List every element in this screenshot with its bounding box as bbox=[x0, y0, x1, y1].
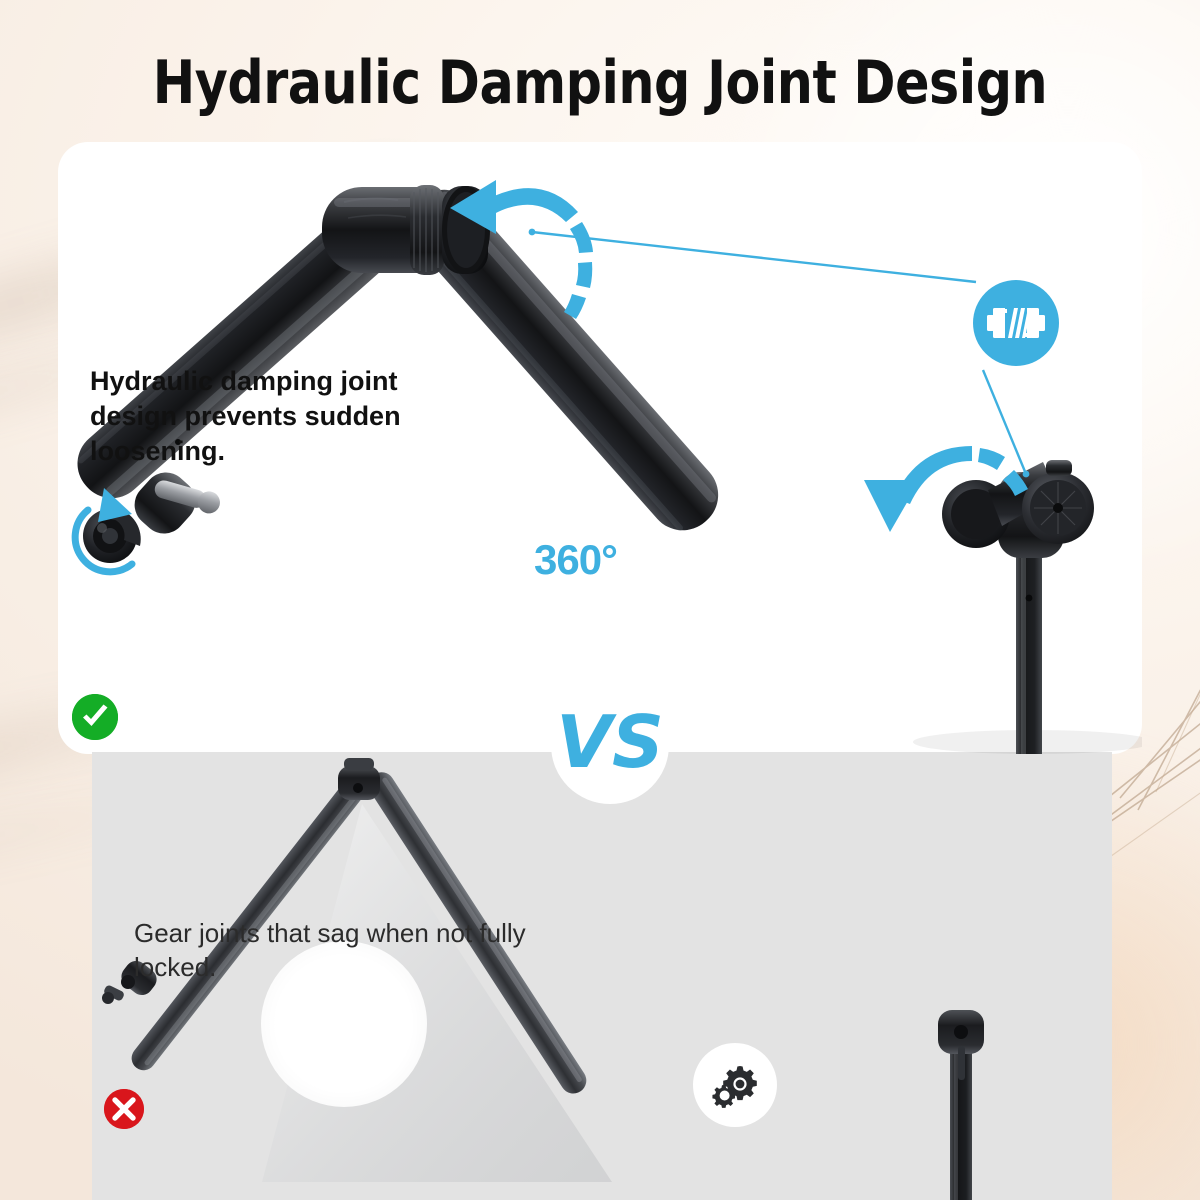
gears-badge bbox=[693, 1043, 777, 1127]
bad-panel-caption: Gear joints that sag when not fully lock… bbox=[134, 916, 534, 985]
x-circle-icon bbox=[104, 1089, 144, 1129]
shock-absorber-icon bbox=[987, 303, 1045, 343]
vs-divider-label: VS bbox=[551, 686, 669, 804]
check-circle-icon bbox=[72, 694, 118, 740]
gears-icon bbox=[710, 1060, 760, 1110]
good-panel-caption: Hydraulic damping joint design prevents … bbox=[90, 364, 480, 469]
page-title: Hydraulic Damping Joint Design bbox=[36, 48, 1164, 118]
vs-text: VS bbox=[556, 700, 664, 784]
vs-glyph: VS bbox=[560, 695, 660, 795]
shock-absorber-badge bbox=[973, 280, 1059, 366]
rotation-label: 360° bbox=[534, 536, 617, 584]
